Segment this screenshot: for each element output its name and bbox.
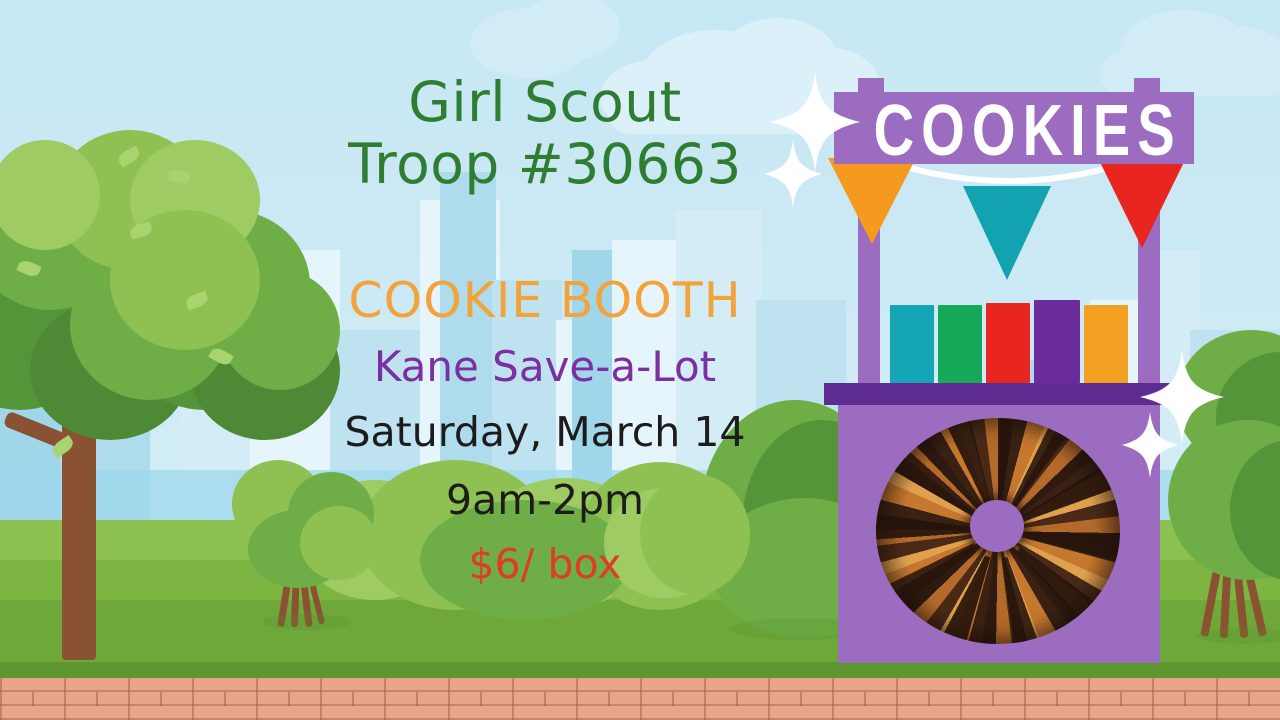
grass-edge-strip (0, 662, 1280, 678)
troop-title-line1: Girl Scout (0, 70, 1090, 134)
sparkle-icon (1122, 412, 1178, 478)
price-per-box: $6/ box (0, 540, 1090, 588)
flag-teal (963, 186, 1051, 280)
event-time: 9am-2pm (0, 476, 1090, 524)
cloud-base (1100, 52, 1280, 96)
event-date: Saturday, March 14 (0, 408, 1090, 456)
troop-title-line2: Troop #30663 (0, 132, 1090, 196)
brick-path (0, 678, 1280, 720)
store-location: Kane Save-a-Lot (0, 342, 1090, 391)
box-orange (1084, 305, 1128, 383)
shrub-shadow (262, 614, 352, 630)
flag-red (1098, 158, 1186, 248)
poster-canvas: COOKIES (0, 0, 1280, 720)
event-type-heading: COOKIE BOOTH (0, 272, 1090, 329)
